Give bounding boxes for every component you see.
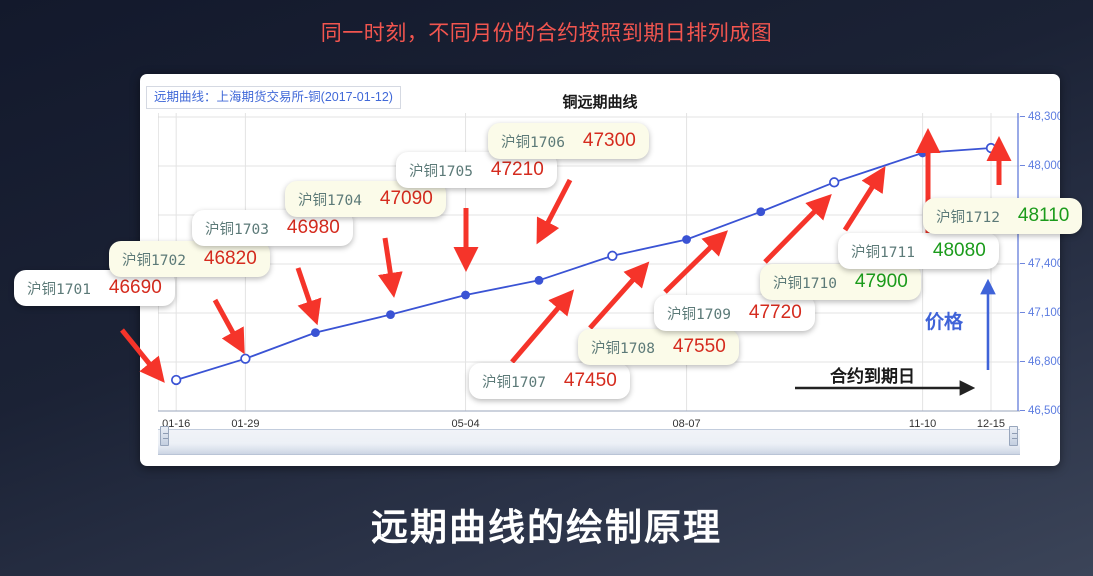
callout-price-value: 48080 [933,240,986,262]
y-axis-tick-mark [1020,263,1025,264]
callout-price-value: 47720 [749,302,802,324]
slide-headline: 同一时刻，不同月份的合约按照到期日排列成图 [0,17,1093,47]
range-scrollbar[interactable] [158,429,1020,455]
y-axis-tick-label: 46,800 [1028,356,1060,368]
y-axis-tick-mark [1020,165,1025,166]
callout-contract-name: 沪铜1711 [851,241,915,262]
range-handle-right[interactable] [1009,426,1018,446]
y-axis-tick-label: 47,100 [1028,307,1060,319]
callout-contract-name: 沪铜1710 [773,272,837,293]
range-scrollbar-fill [158,430,1020,454]
data-point-marker-沪铜1709[interactable] [757,208,765,216]
data-point-marker-沪铜1708[interactable] [683,236,691,244]
chart-title: 铜远期曲线 [140,91,1060,112]
callout-price-value: 47450 [564,370,617,392]
data-point-marker-沪铜1710[interactable] [830,178,839,187]
callout-contract-name: 沪铜1705 [409,160,473,181]
data-point-marker-沪铜1706[interactable] [535,277,543,285]
callout-沪铜1706: 沪铜170647300 [488,123,649,159]
price-axis-annotation: 价格 [925,307,963,334]
callout-price-value: 46980 [287,217,340,239]
data-point-marker-沪铜1707[interactable] [608,252,617,261]
callout-contract-name: 沪铜1704 [298,189,362,210]
slide-footline: 远期曲线的绘制原理 [0,497,1093,551]
slide-root: 同一时刻，不同月份的合约按照到期日排列成图 远期曲线：上海期货交易所-铜(201… [0,0,1093,576]
callout-contract-name: 沪铜1706 [501,131,565,152]
y-axis-tick-label: 48,300 [1028,111,1060,123]
callout-沪铜1712: 沪铜171248110 [923,198,1082,234]
callout-price-value: 48110 [1018,205,1069,227]
callout-沪铜1702: 沪铜170246820 [109,241,270,277]
callout-沪铜1707: 沪铜170747450 [469,363,630,399]
y-axis-tick-mark [1020,312,1025,313]
callout-price-value: 47300 [583,130,636,152]
callout-price-value: 47550 [673,336,726,358]
data-point-marker-沪铜1712[interactable] [987,144,996,153]
y-axis-tick-mark [1020,116,1025,117]
callout-沪铜1711: 沪铜171148080 [838,233,999,269]
callout-price-value: 46690 [109,277,162,299]
y-axis-tick-mark [1020,361,1025,362]
callout-price-value: 47090 [380,188,433,210]
callout-price-value: 47210 [491,159,544,181]
callout-沪铜1710: 沪铜171047900 [760,264,921,300]
callout-contract-name: 沪铜1702 [122,249,186,270]
data-point-marker-沪铜1705[interactable] [462,291,470,299]
range-handle-left[interactable] [160,426,169,446]
callout-contract-name: 沪铜1708 [591,337,655,358]
data-point-marker-沪铜1701[interactable] [172,376,181,385]
callout-contract-name: 沪铜1703 [205,218,269,239]
callout-contract-name: 沪铜1709 [667,303,731,324]
y-axis-tick-label: 46,500 [1028,405,1060,417]
data-point-marker-沪铜1704[interactable] [387,311,395,319]
data-point-marker-沪铜1702[interactable] [241,354,250,363]
callout-contract-name: 沪铜1707 [482,371,546,392]
callout-price-value: 47900 [855,271,908,293]
data-point-marker-沪铜1711[interactable] [919,149,927,157]
y-axis-tick-label: 48,000 [1028,160,1060,172]
callout-沪铜1709: 沪铜170947720 [654,295,815,331]
callout-contract-name: 沪铜1712 [936,206,1000,227]
callout-contract-name: 沪铜1701 [27,278,91,299]
expiry-axis-annotation: 合约到期日 [830,362,915,387]
callout-沪铜1708: 沪铜170847550 [578,329,739,365]
y-axis-tick-label: 47,400 [1028,258,1060,270]
y-axis-tick-mark [1020,410,1025,411]
data-point-marker-沪铜1703[interactable] [312,329,320,337]
callout-price-value: 46820 [204,248,257,270]
